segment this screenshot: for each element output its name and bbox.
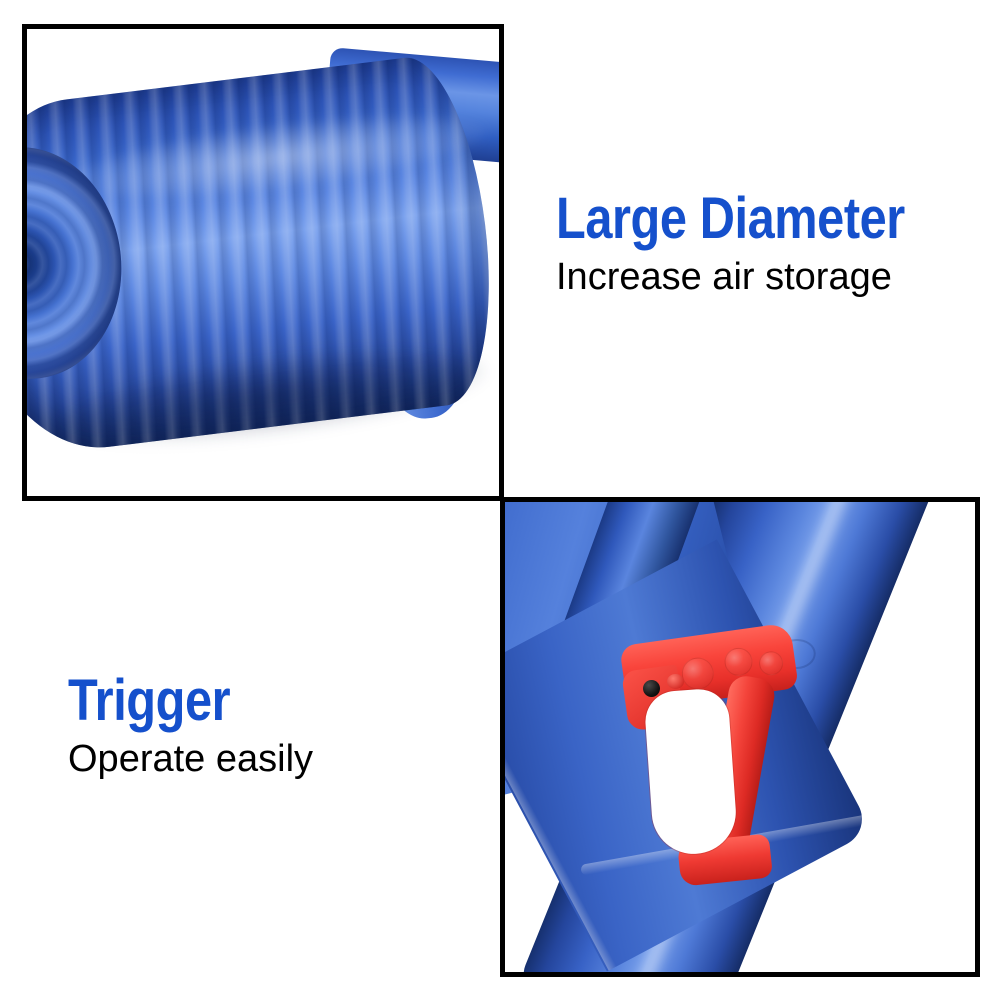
trigger-pivot-pin (643, 680, 660, 697)
photo-frame-inner (505, 502, 975, 972)
feature-trigger: Trigger Operate easily (68, 672, 468, 780)
red-trigger-lever (623, 624, 799, 884)
trigger-photo-panel (500, 497, 980, 977)
trigger-boss (758, 650, 785, 677)
feature-trigger-title: Trigger (68, 672, 404, 730)
bellows-cylinder-photo (27, 29, 499, 496)
trigger-boss (680, 656, 716, 692)
feature-trigger-subtitle: Operate easily (68, 740, 468, 780)
trigger-finger-opening (643, 687, 738, 856)
feature-large-diameter-subtitle: Increase air storage (556, 258, 976, 298)
feature-large-diameter: Large Diameter Increase air storage (556, 190, 976, 298)
trigger-boss (723, 646, 755, 678)
trigger-assembly-photo (505, 502, 975, 972)
feature-large-diameter-title: Large Diameter (556, 190, 909, 248)
infographic-canvas: Large Diameter Increase air storage Trig… (0, 0, 1000, 1000)
trigger-pivot-boss (667, 674, 684, 689)
photo-frame-inner (27, 29, 499, 496)
large-diameter-photo-panel (22, 24, 504, 501)
